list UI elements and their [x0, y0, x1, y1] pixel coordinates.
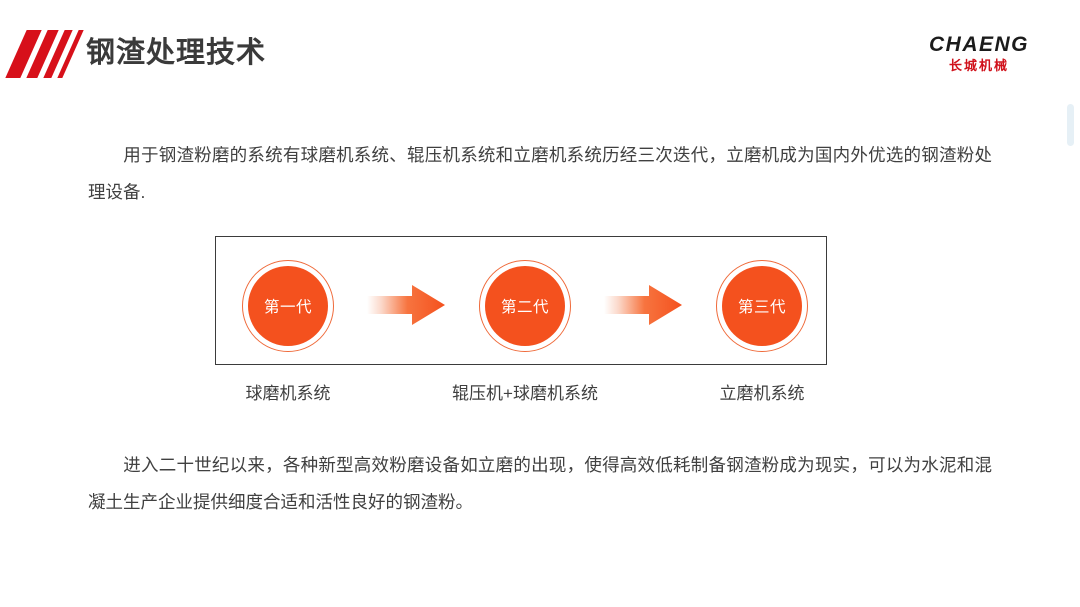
stage-circle-1-label: 第一代: [248, 266, 328, 346]
stage-circle-3: 第三代: [716, 260, 808, 352]
right-arrow-icon: [367, 283, 445, 327]
intro-paragraph: 用于钢渣粉磨的系统有球磨机系统、辊压机系统和立磨机系统历经三次迭代，立磨机成为国…: [88, 137, 992, 211]
stage-caption-2: 辊压机+球磨机系统: [405, 381, 645, 407]
intro-paragraph-text: 用于钢渣粉磨的系统有球磨机系统、辊压机系统和立磨机系统历经三次迭代，立磨机成为国…: [88, 145, 992, 202]
stage-caption-3: 立磨机系统: [662, 381, 862, 407]
stage-caption-1: 球磨机系统: [188, 381, 388, 407]
logo-wordmark: CHAENG: [918, 33, 1040, 56]
stage-circle-2-label: 第二代: [485, 266, 565, 346]
conclusion-paragraph-text: 进入二十世纪以来，各种新型高效粉磨设备如立磨的出现，使得高效低耗制备钢渣粉成为现…: [88, 455, 992, 512]
company-logo: CHAENG 长城机械: [918, 33, 1040, 75]
page-header: 钢渣处理技术 CHAENG 长城机械: [0, 0, 1080, 96]
right-arrow-icon: [604, 283, 682, 327]
vertical-scrollbar-thumb[interactable]: [1067, 104, 1074, 146]
brand-stripes-icon: [14, 30, 80, 78]
logo-subtitle: 长城机械: [918, 57, 1040, 75]
stage-circle-1: 第一代: [242, 260, 334, 352]
conclusion-paragraph: 进入二十世纪以来，各种新型高效粉磨设备如立磨的出现，使得高效低耗制备钢渣粉成为现…: [88, 447, 992, 521]
stage-circle-3-label: 第三代: [722, 266, 802, 346]
page-title: 钢渣处理技术: [86, 33, 266, 73]
stage-circle-2: 第二代: [479, 260, 571, 352]
